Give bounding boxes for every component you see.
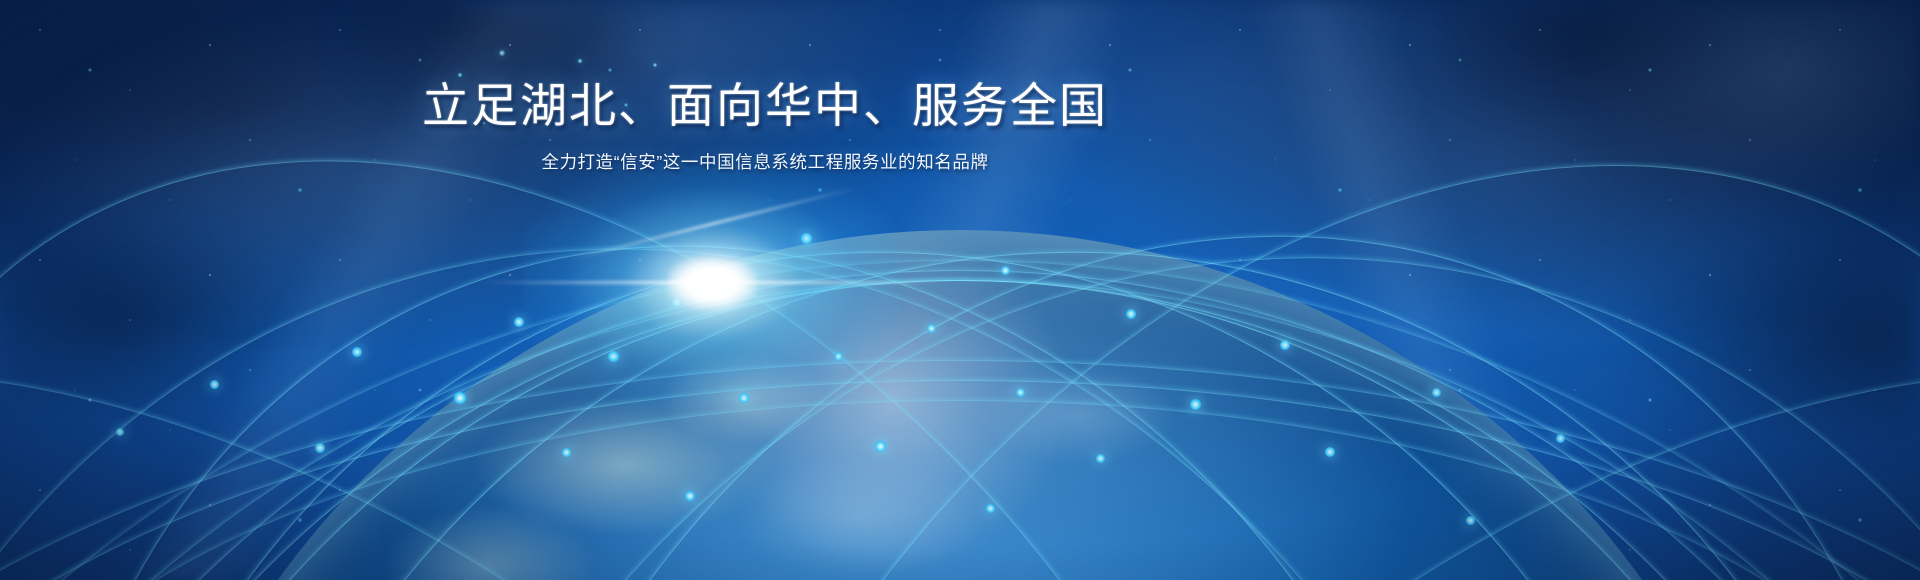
banner-text-block: 立足湖北、面向华中、服务全国 全力打造“信安”这一中国信息系统工程服务业的知名品… [0, 78, 1530, 176]
hero-banner: 立足湖北、面向华中、服务全国 全力打造“信安”这一中国信息系统工程服务业的知名品… [0, 0, 1920, 580]
banner-subheadline: 全力打造“信安”这一中国信息系统工程服务业的知名品牌 [0, 149, 1530, 175]
banner-headline: 立足湖北、面向华中、服务全国 [0, 78, 1530, 133]
